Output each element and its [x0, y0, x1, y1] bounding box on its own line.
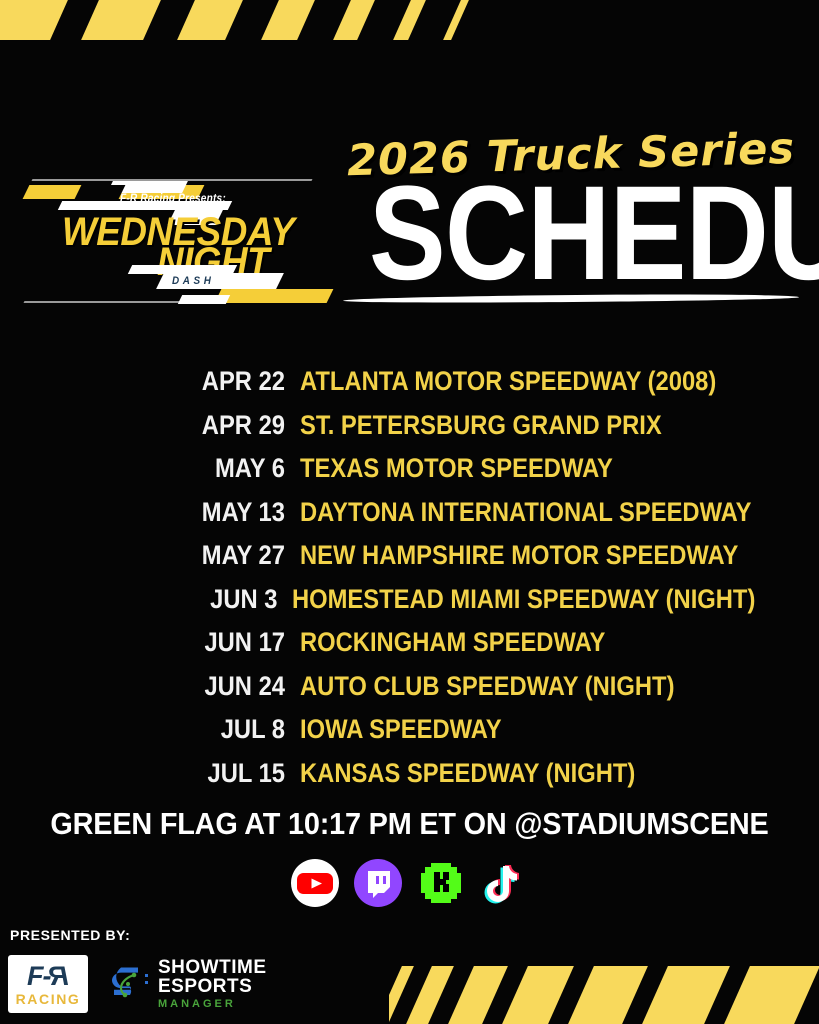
tiktok-icon[interactable]	[477, 855, 532, 910]
schedule-date: JUN 3	[33, 584, 277, 615]
headline-block: 2026 Truck Series SCHEDULE	[336, 130, 806, 302]
logo-accent-black-notch-1	[75, 185, 126, 199]
schedule-track: IOWA SPEEDWAY	[300, 714, 502, 745]
showtime-line-1: SHOWTIME	[158, 958, 267, 977]
schedule-row: MAY 13DAYTONA INTERNATIONAL SPEEDWAY	[0, 497, 819, 541]
schedule-date: MAY 27	[34, 540, 285, 571]
wednesday-night-dash-logo: F-R Racing Presents: WEDNESDAY NIGHT DAS…	[22, 165, 327, 313]
showtime-wordmark: SHOWTIME ESPORTS MANAGER	[158, 958, 267, 1010]
schedule-row: JUN 24AUTO CLUB SPEEDWAY (NIGHT)	[0, 671, 819, 715]
schedule-row: JUN 17ROCKINGHAM SPEEDWAY	[0, 627, 819, 671]
showtime-line-2: ESPORTS	[158, 977, 267, 996]
fr-racing-logo: F-R RACING	[8, 955, 88, 1013]
fr-racing-word: RACING	[16, 992, 81, 1006]
schedule-track: ST. PETERSBURG GRAND PRIX	[300, 410, 662, 441]
kick-icon[interactable]	[414, 855, 469, 910]
schedule-row: MAY 27NEW HAMPSHIRE MOTOR SPEEDWAY	[0, 540, 819, 584]
youtube-icon[interactable]	[288, 855, 343, 910]
schedule-list: APR 22ATLANTA MOTOR SPEEDWAY (2008)APR 2…	[0, 366, 819, 801]
showtime-line-3: MANAGER	[158, 999, 267, 1010]
schedule-poster: F-R Racing Presents: WEDNESDAY NIGHT DAS…	[0, 0, 819, 1024]
page-title: SCHEDULE	[369, 182, 773, 287]
schedule-track: TEXAS MOTOR SPEEDWAY	[300, 453, 613, 484]
schedule-date: APR 22	[34, 366, 285, 397]
logo-dash-text: DASH	[172, 275, 214, 287]
sponsor-row: F-R RACING SHOWTIME ESPORTS MANAGER	[8, 955, 267, 1013]
logo-accent-yellow-2	[215, 289, 334, 303]
social-links-row	[0, 855, 819, 910]
twitch-icon[interactable]	[351, 855, 406, 910]
schedule-date: MAY 6	[34, 453, 285, 484]
schedule-row: APR 22ATLANTA MOTOR SPEEDWAY (2008)	[0, 366, 819, 410]
logo-accent-white-5	[178, 295, 230, 304]
schedule-track: ROCKINGHAM SPEEDWAY	[300, 627, 605, 658]
showtime-esports-manager-logo: SHOWTIME ESPORTS MANAGER	[104, 958, 267, 1010]
logo-presents-text: F-R Racing Presents:	[120, 193, 226, 205]
schedule-track: NEW HAMPSHIRE MOTOR SPEEDWAY	[300, 540, 738, 571]
hazard-stripes-bottom	[389, 966, 819, 1024]
schedule-row: MAY 6TEXAS MOTOR SPEEDWAY	[0, 453, 819, 497]
schedule-date: APR 29	[34, 410, 285, 441]
schedule-date: MAY 13	[34, 497, 285, 528]
schedule-date: JUL 15	[34, 758, 285, 789]
fr-racing-mark: F-R	[27, 963, 69, 990]
schedule-row: JUL 15KANSAS SPEEDWAY (NIGHT)	[0, 758, 819, 802]
schedule-track: AUTO CLUB SPEEDWAY (NIGHT)	[300, 671, 674, 702]
schedule-track: HOMESTEAD MIAMI SPEEDWAY (NIGHT)	[292, 584, 755, 615]
schedule-track: KANSAS SPEEDWAY (NIGHT)	[300, 758, 635, 789]
green-flag-info: GREEN FLAG AT 10:17 PM ET ON @STADIUMSCE…	[29, 806, 791, 842]
schedule-row: JUL 8IOWA SPEEDWAY	[0, 714, 819, 758]
schedule-track: ATLANTA MOTOR SPEEDWAY (2008)	[300, 366, 716, 397]
showtime-s-mark	[104, 961, 150, 1007]
schedule-row: APR 29ST. PETERSBURG GRAND PRIX	[0, 410, 819, 454]
hazard-stripes-top	[0, 0, 490, 40]
schedule-date: JUN 17	[34, 627, 285, 658]
schedule-date: JUN 24	[34, 671, 285, 702]
schedule-date: JUL 8	[34, 714, 285, 745]
schedule-track: DAYTONA INTERNATIONAL SPEEDWAY	[300, 497, 752, 528]
schedule-row: JUN 3HOMESTEAD MIAMI SPEEDWAY (NIGHT)	[0, 584, 819, 628]
presented-by-label: PRESENTED BY:	[10, 927, 130, 943]
